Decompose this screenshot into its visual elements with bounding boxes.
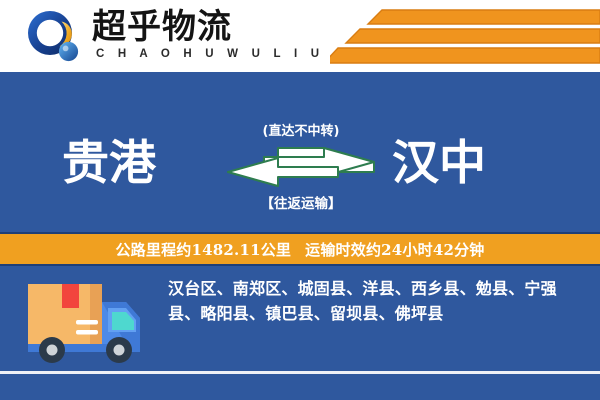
- coverage-row: 汉台区、南郑区、城固县、洋县、西乡县、勉县、宁强县、略阳县、镇巴县、留坝县、佛坪…: [0, 272, 600, 370]
- banner-bottom-edge: [0, 264, 600, 266]
- direct-service-note: (直达不中转): [222, 120, 380, 139]
- header: 超乎物流 C H A O H U W U L I U: [0, 0, 600, 72]
- brand-name-cn: 超乎物流: [92, 8, 232, 46]
- origin-city: 贵港: [62, 136, 156, 192]
- double-headed-arrow-icon: [224, 146, 378, 188]
- main-blue-panel: 贵港 (直达不中转) 【往返运输】 汉中 公路里程约1482.11公里: [0, 72, 600, 400]
- logistics-route-poster: 超乎物流 C H A O H U W U L I U 贵港 (直达不中转): [0, 0, 600, 400]
- info-banner: 公路里程约1482.11公里 运输时效约24小时42分钟: [0, 234, 600, 264]
- route-arrow-block: (直达不中转) 【往返运输】: [222, 108, 380, 228]
- delivery-truck-icon: [22, 276, 150, 368]
- route-row: 贵港 (直达不中转) 【往返运输】 汉中: [0, 108, 600, 228]
- info-banner-wrap: 公路里程约1482.11公里 运输时效约24小时42分钟: [0, 232, 600, 266]
- roundtrip-note: 【往返运输】: [222, 192, 380, 212]
- distance-text: 公路里程约1482.11公里: [115, 239, 291, 260]
- footer-band: [0, 374, 600, 400]
- coverage-areas-text: 汉台区、南郑区、城固县、洋县、西乡县、勉县、宁强县、略阳县、镇巴县、留坝县、佛坪…: [168, 276, 580, 326]
- brand-name-en: C H A O H U W U L I U: [96, 48, 324, 60]
- duration-text: 运输时效约24小时42分钟: [305, 239, 484, 260]
- orange-speed-stripes-icon: [330, 8, 600, 66]
- circle-crescent-logo-icon: [26, 10, 82, 64]
- destination-city: 汉中: [392, 136, 486, 192]
